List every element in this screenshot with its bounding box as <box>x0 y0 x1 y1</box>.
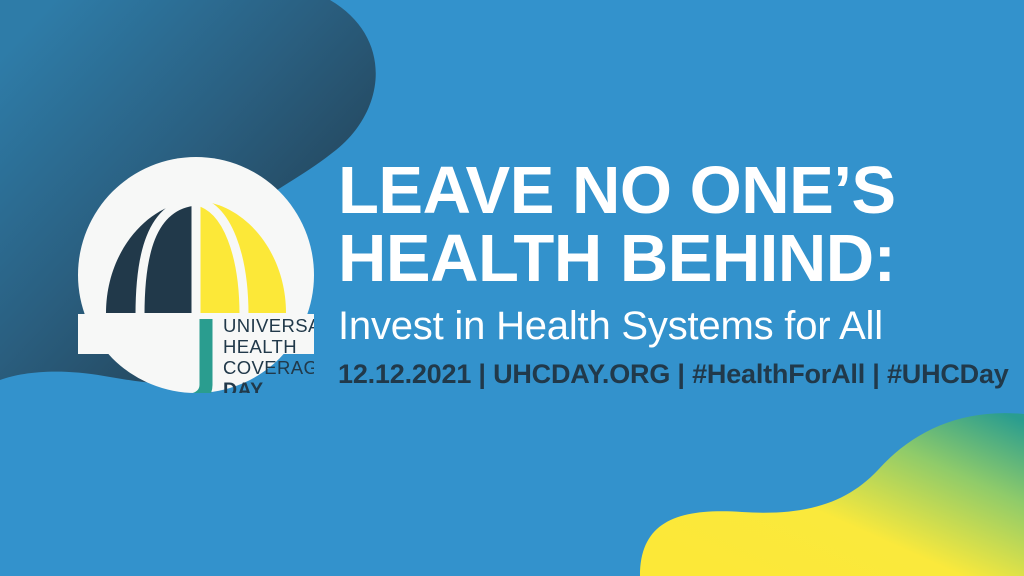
tagline: 12.12.2021 | UHCDAY.ORG | #HealthForAll … <box>338 359 998 390</box>
uhc-day-banner: UNIVERSAL HEALTH COVERAGE DAY LEAVE NO O… <box>0 0 1024 576</box>
uhc-day-logo: UNIVERSAL HEALTH COVERAGE DAY <box>78 157 314 393</box>
logo-svg: UNIVERSAL HEALTH COVERAGE DAY <box>78 157 314 393</box>
subtitle: Invest in Health Systems for All <box>338 305 998 347</box>
logo-line-2: HEALTH <box>223 336 297 357</box>
logo-line-day: DAY <box>223 379 264 393</box>
headline-line-1: LEAVE NO ONE’S <box>338 158 998 224</box>
logo-line-3: COVERAGE <box>223 357 314 378</box>
banner-text-block: LEAVE NO ONE’S HEALTH BEHIND: Invest in … <box>338 158 998 390</box>
logo-line-1: UNIVERSAL <box>223 315 314 336</box>
headline-line-2: HEALTH BEHIND: <box>338 226 998 292</box>
